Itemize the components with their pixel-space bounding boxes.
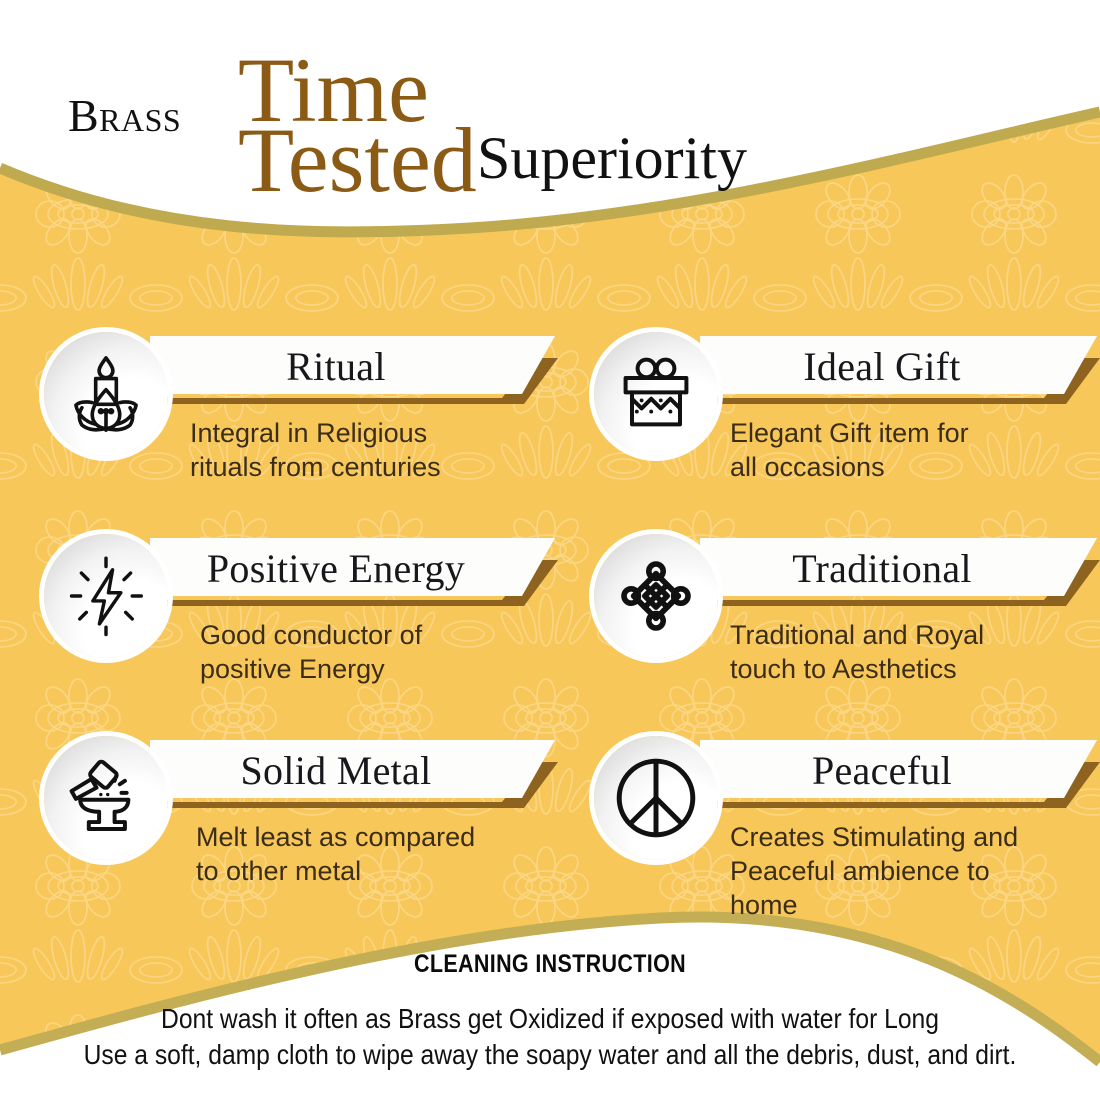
card-description-solid-metal: Melt least as compared to other metal bbox=[196, 820, 576, 888]
feature-card-ritual[interactable]: Ritual Integral in Religious rituals fro… bbox=[38, 316, 558, 516]
cleaning-instruction-heading: CLEANING INSTRUCTION bbox=[77, 950, 1023, 979]
cleaning-instruction-line-2: Use a soft, damp cloth to wipe away the … bbox=[66, 1037, 1034, 1073]
gift-box-icon bbox=[594, 332, 718, 456]
desc-line: positive Energy bbox=[200, 652, 560, 686]
desc-line: rituals from centuries bbox=[190, 450, 550, 484]
title-word-superiority: Superiority bbox=[477, 128, 747, 188]
title-word-brass: Brass bbox=[68, 93, 181, 139]
banner-shape bbox=[700, 740, 1100, 810]
desc-line: to other metal bbox=[196, 854, 576, 888]
desc-line: Melt least as compared bbox=[196, 820, 576, 854]
desc-line: Traditional and Royal bbox=[730, 618, 1090, 652]
desc-line: Integral in Religious bbox=[190, 416, 550, 450]
feature-card-grid: Ritual Integral in Religious rituals fro… bbox=[0, 300, 1100, 940]
desc-line: Peaceful ambience to bbox=[730, 854, 1100, 888]
feature-card-ideal-gift[interactable]: Ideal Gift Elegant Gift item for all occ… bbox=[588, 316, 1088, 516]
cleaning-instruction-block: CLEANING INSTRUCTION Dont wash it often … bbox=[0, 950, 1100, 1073]
peace-sign-icon bbox=[594, 736, 718, 860]
desc-line: Creates Stimulating and bbox=[730, 820, 1100, 854]
hammer-anvil-icon bbox=[44, 736, 168, 860]
banner-shape bbox=[150, 336, 558, 406]
lightning-bolt-icon bbox=[44, 534, 168, 658]
desc-line: Good conductor of bbox=[200, 618, 560, 652]
feature-card-positive-energy[interactable]: Positive Energy Good conductor of positi… bbox=[38, 518, 558, 718]
page-title: Brass Time Tested Superiority bbox=[60, 38, 700, 173]
card-description-traditional: Traditional and Royal touch to Aesthetic… bbox=[730, 618, 1090, 686]
desc-line: all occasions bbox=[730, 450, 1090, 484]
cleaning-instruction-line-1: Dont wash it often as Brass get Oxidized… bbox=[66, 1001, 1034, 1037]
banner-shape bbox=[150, 740, 558, 810]
desc-line: touch to Aesthetics bbox=[730, 652, 1090, 686]
card-description-peaceful: Creates Stimulating and Peaceful ambienc… bbox=[730, 820, 1100, 922]
desc-line: Elegant Gift item for bbox=[730, 416, 1090, 450]
title-word-tested: Tested bbox=[238, 114, 477, 206]
card-description-ideal-gift: Elegant Gift item for all occasions bbox=[730, 416, 1090, 484]
candle-lotus-icon bbox=[44, 332, 168, 456]
card-description-positive-energy: Good conductor of positive Energy bbox=[200, 618, 560, 686]
feature-card-traditional[interactable]: Traditional Traditional and Royal touch … bbox=[588, 518, 1088, 718]
feature-card-solid-metal[interactable]: Solid Metal Melt least as compared to ot… bbox=[38, 720, 558, 930]
card-description-ritual: Integral in Religious rituals from centu… bbox=[190, 416, 550, 484]
desc-line: home bbox=[730, 888, 1100, 922]
banner-shape bbox=[700, 336, 1100, 406]
feature-card-peaceful[interactable]: Peaceful Creates Stimulating and Peacefu… bbox=[588, 720, 1088, 950]
endless-knot-icon bbox=[594, 534, 718, 658]
infographic-canvas: Brass Time Tested Superiority Ritual Int… bbox=[0, 0, 1100, 1100]
banner-shape bbox=[150, 538, 558, 608]
banner-shape bbox=[700, 538, 1100, 608]
